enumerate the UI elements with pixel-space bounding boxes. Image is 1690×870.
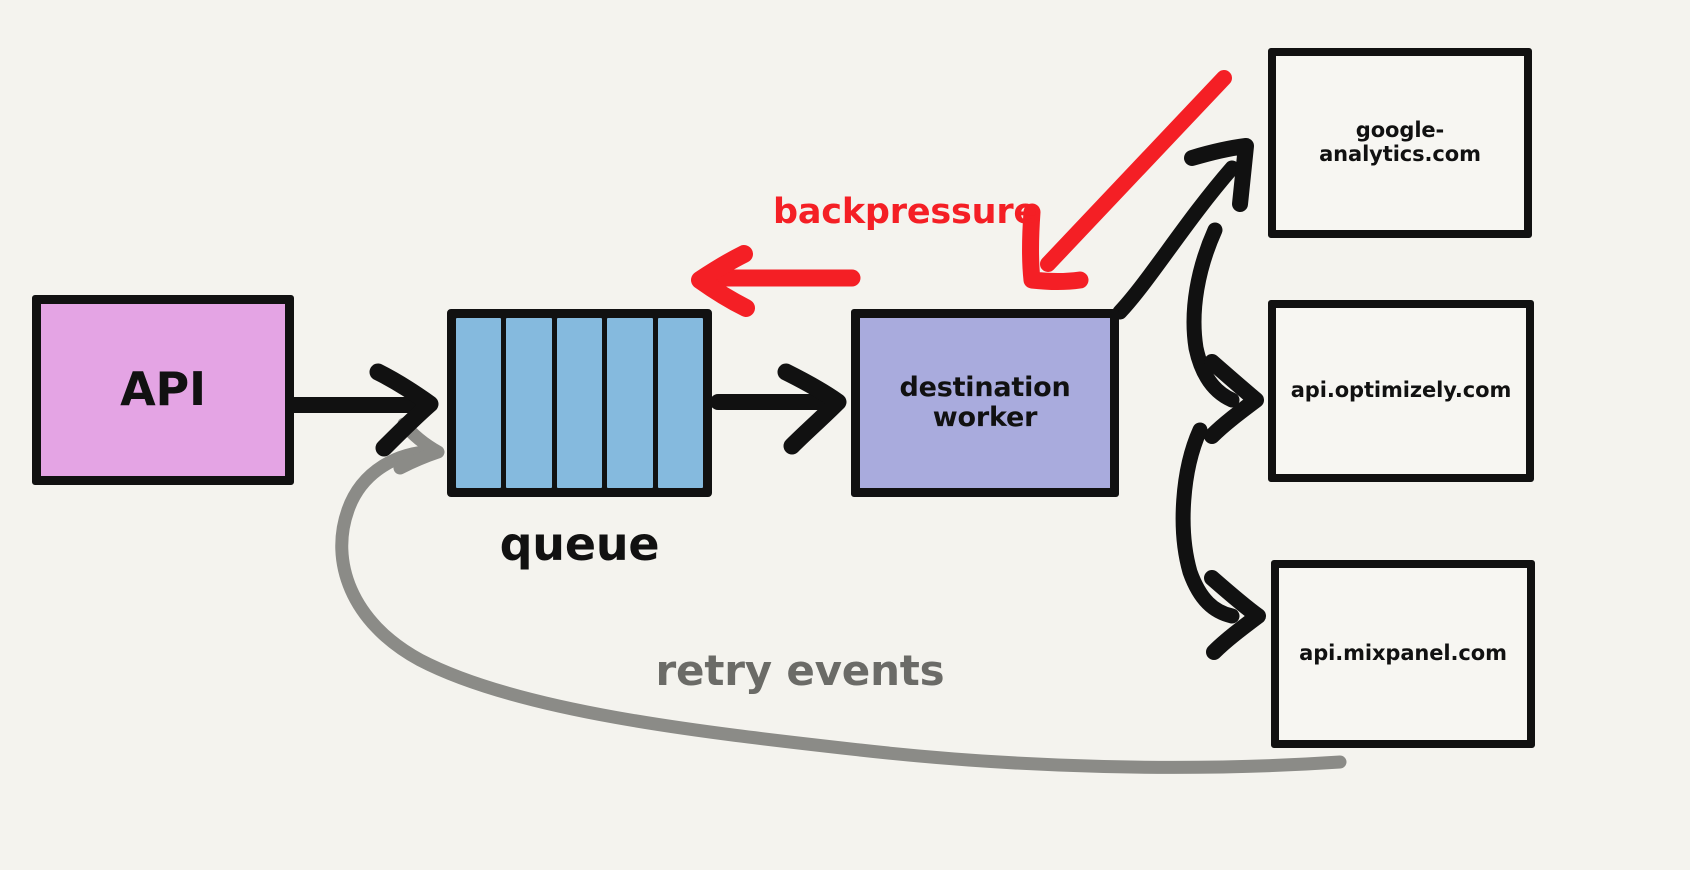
- queue-cell: [607, 318, 652, 488]
- backpressure-annotation: backpressure: [760, 185, 1050, 240]
- queue-cell: [456, 318, 501, 488]
- edge-worker-to-google-analytics: [1120, 146, 1246, 312]
- edge-api-to-queue: [290, 372, 430, 448]
- api-node[interactable]: API: [32, 295, 294, 485]
- diagram-canvas: API queue destination worker google-anal…: [0, 0, 1690, 870]
- destination-label: api.mixpanel.com: [1299, 642, 1507, 666]
- destination-label: google-analytics.com: [1276, 119, 1524, 166]
- destination-label: api.optimizely.com: [1291, 379, 1512, 403]
- queue-cell: [506, 318, 551, 488]
- api-label: API: [120, 364, 206, 416]
- queue-cell: [658, 318, 703, 488]
- worker-label-line1: destination: [899, 373, 1070, 403]
- queue-cell: [557, 318, 602, 488]
- edge-worker-to-optimizely: [1194, 230, 1256, 436]
- worker-label-line2: worker: [933, 403, 1037, 433]
- queue-node[interactable]: [447, 309, 712, 497]
- edge-backpressure-left: [700, 254, 852, 308]
- edge-queue-to-worker: [718, 372, 838, 446]
- destination-optimizely[interactable]: api.optimizely.com: [1268, 300, 1534, 482]
- edge-backpressure-diagonal: [1031, 78, 1225, 282]
- destination-mixpanel[interactable]: api.mixpanel.com: [1271, 560, 1535, 748]
- edge-worker-to-mixpanel: [1183, 430, 1258, 652]
- destination-worker-node[interactable]: destination worker: [851, 309, 1119, 497]
- destination-google-analytics[interactable]: google-analytics.com: [1268, 48, 1532, 238]
- retry-events-annotation: retry events: [640, 640, 960, 702]
- queue-caption: queue: [447, 510, 712, 580]
